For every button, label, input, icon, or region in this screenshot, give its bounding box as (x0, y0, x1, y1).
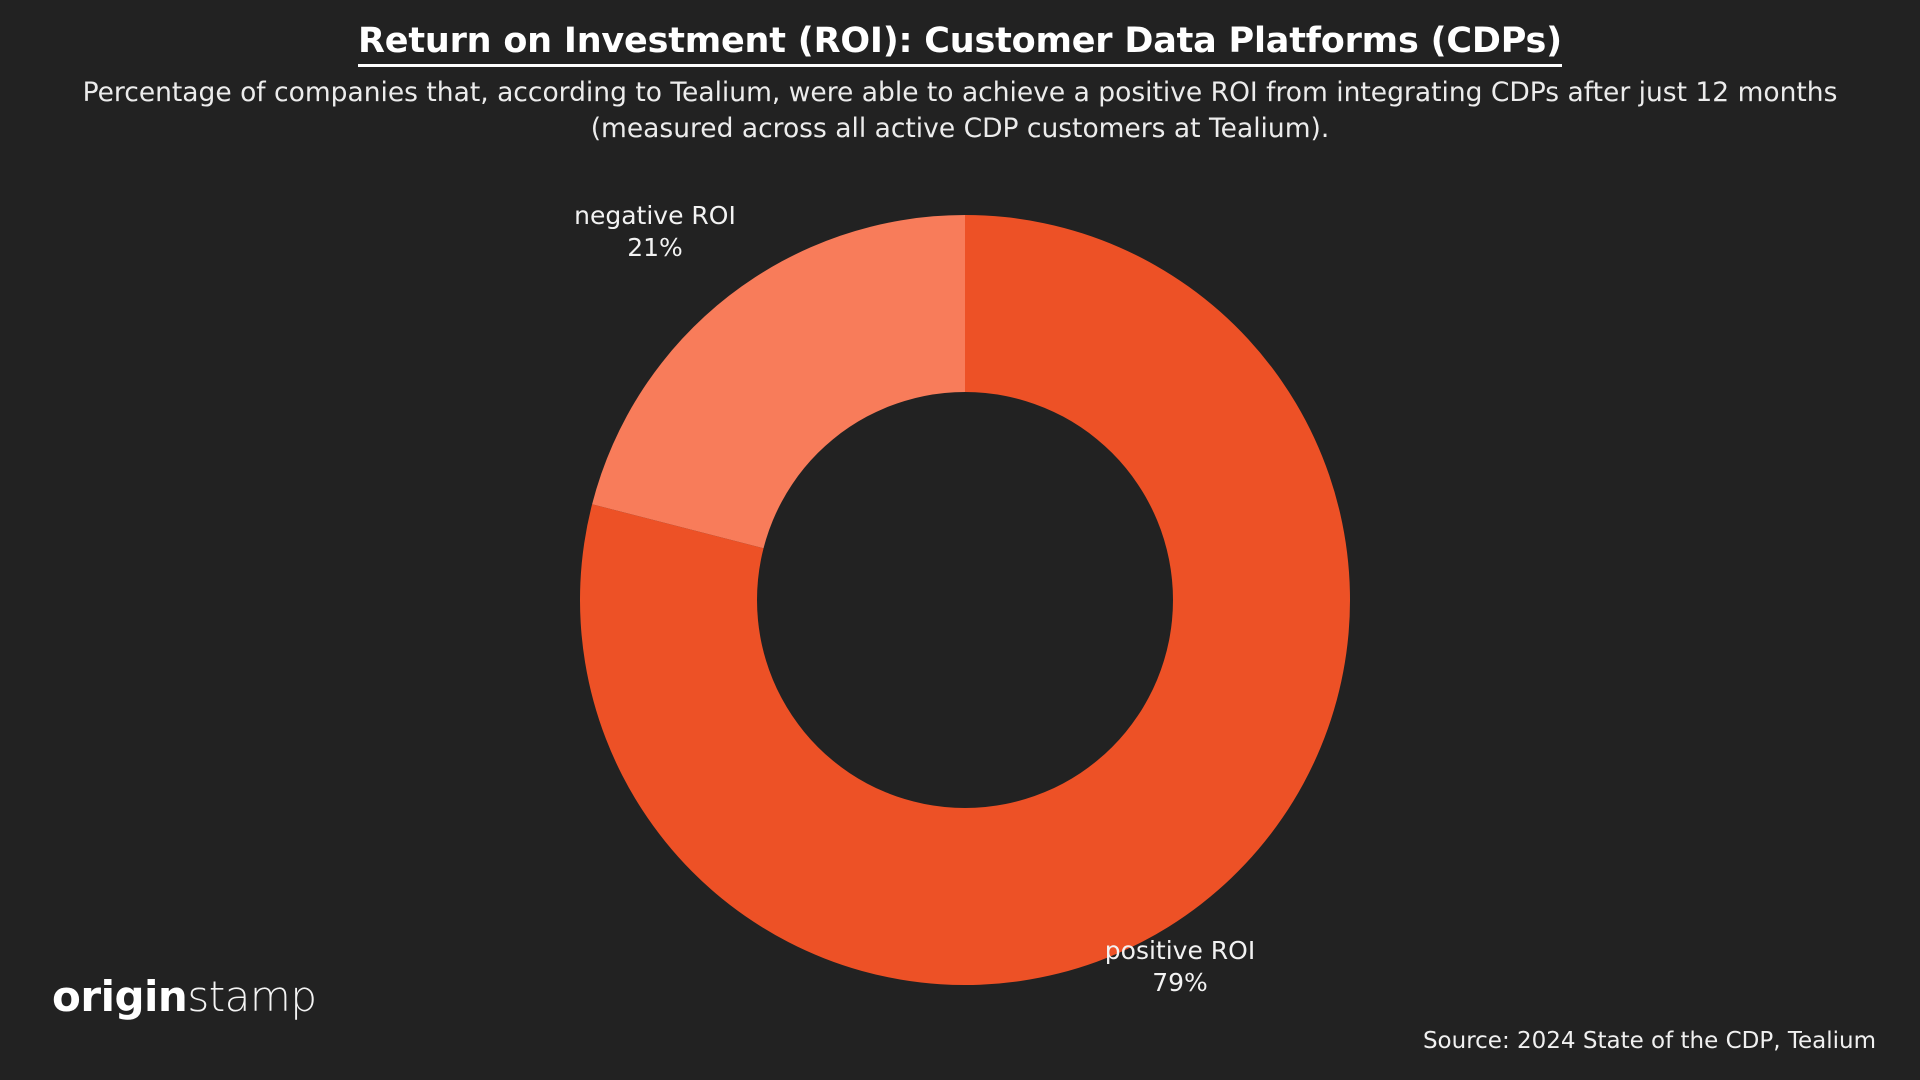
donut-label-positive-roi: positive ROI 79% (1060, 935, 1300, 999)
donut-hole (757, 392, 1173, 808)
logo-origin-text: origin (52, 972, 187, 1021)
donut-label-negative-roi: negative ROI 21% (540, 200, 770, 264)
donut-label-positive-roi-name: positive ROI (1105, 936, 1255, 965)
logo-stamp-text: stamp (187, 972, 316, 1021)
source-caption: Source: 2024 State of the CDP, Tealium (1423, 1028, 1876, 1054)
donut-label-negative-roi-value: 21% (540, 232, 770, 264)
donut-chart-svg (580, 215, 1350, 985)
originstamp-logo: originstamp (52, 976, 317, 1018)
donut-label-negative-roi-name: negative ROI (574, 201, 736, 230)
chart-canvas: Return on Investment (ROI): Customer Dat… (0, 0, 1920, 1080)
donut-label-positive-roi-value: 79% (1060, 967, 1300, 999)
donut-chart-plot: negative ROI 21% positive ROI 79% (0, 0, 1920, 1080)
